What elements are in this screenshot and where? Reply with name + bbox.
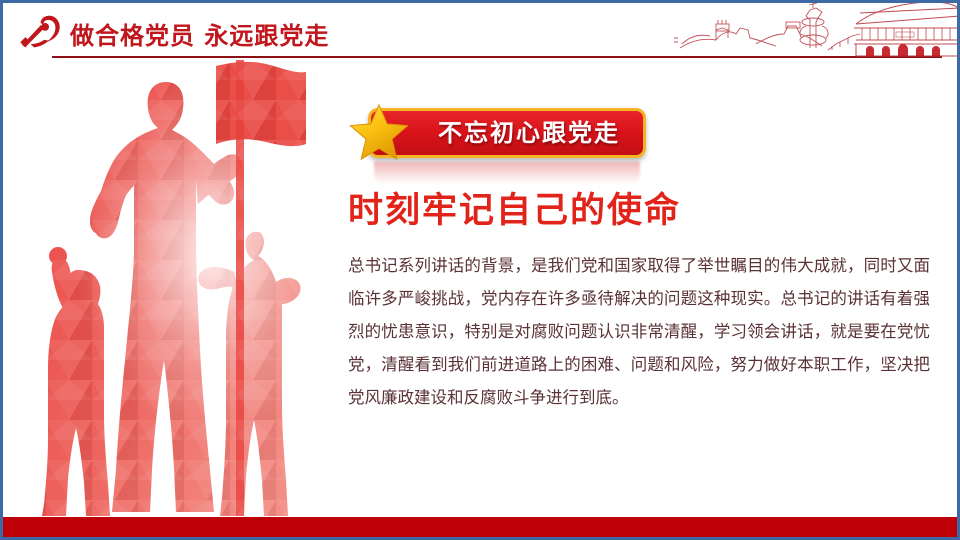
great-wall-tiananmen-line-art-icon: [660, 0, 960, 58]
people-with-flag-silhouette-icon: [0, 60, 340, 520]
frame-edge-top: [0, 0, 960, 3]
gold-star-icon: [348, 102, 410, 164]
banner-label: 不忘初心跟党走: [371, 111, 649, 155]
slide-canvas: 做合格党员 永远跟党走: [0, 0, 960, 540]
hammer-sickle-emblem-icon: [18, 14, 62, 50]
content-column: 不忘初心跟党走 时刻牢记自己的使命 总书记系列讲话的背景，是我们党和国: [340, 100, 940, 414]
page-title: 时刻牢记自己的使命: [348, 182, 940, 233]
title-banner: 不忘初心跟党走: [340, 100, 940, 186]
banner-reflection: [374, 162, 640, 184]
slide-header: 做合格党员 永远跟党走: [0, 0, 960, 62]
body-paragraph: 总书记系列讲话的背景，是我们党和国家取得了举世瞩目的伟大成就，同时又面临许多严峻…: [348, 249, 930, 414]
frame-edge-left: [0, 0, 3, 540]
header-title: 做合格党员 永远跟党走: [70, 16, 329, 51]
